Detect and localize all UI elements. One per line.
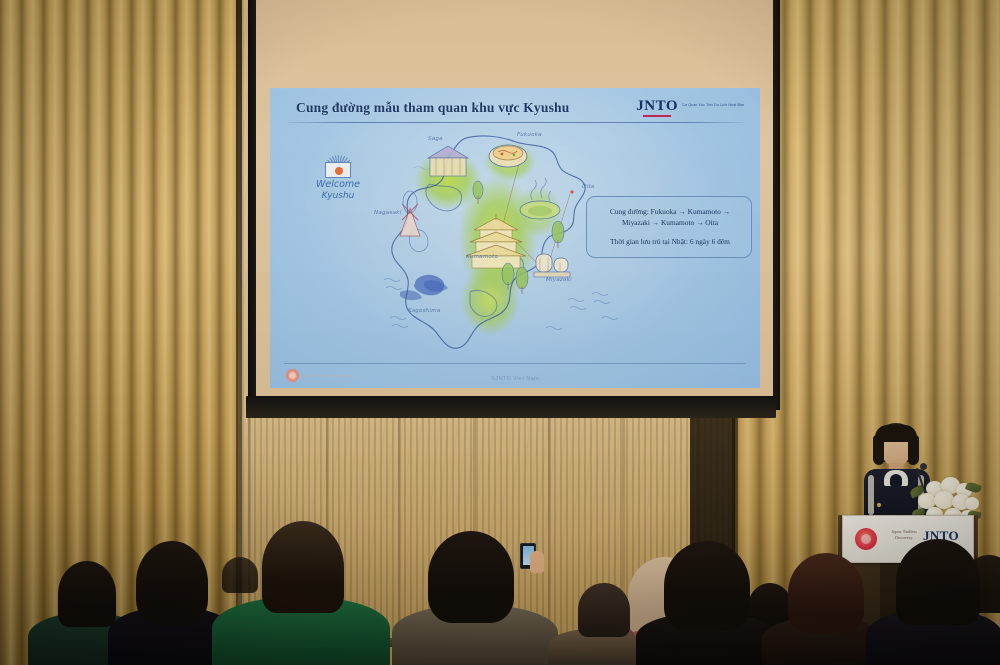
audience xyxy=(0,530,1000,665)
speaker-jacket-trim-left xyxy=(868,475,874,515)
map-label-miyazaki: Miyazaki xyxy=(546,277,572,283)
attendee-with-phone xyxy=(428,531,514,623)
map-label-oita: Oita xyxy=(582,184,594,190)
speaker-hair-right xyxy=(908,435,919,465)
route-stay-duration: Thời gian lưu trú tại Nhật: 6 ngày 6 đêm xyxy=(598,237,742,246)
route-line-1: Cung đường: Fukuoka → Kumamoto → xyxy=(598,207,742,218)
map-label-saga: Saga xyxy=(428,136,443,142)
map-label-kumamoto: Kumamoto xyxy=(466,254,498,260)
screen-right-frame xyxy=(772,0,780,410)
map-label-nagasaki: Nagasaki xyxy=(374,210,401,216)
attendee-12 xyxy=(222,557,258,593)
attendee-hand xyxy=(530,551,544,573)
attendee-1 xyxy=(58,561,116,627)
slide-title: Cung đường mẫu tham quan khu vực Kyushu xyxy=(296,100,569,116)
jnto-subtitle: Cơ Quan Xúc Tiến Du Lịch Nhật Bản xyxy=(682,103,752,107)
conference-room-scene: Cung đường mẫu tham quan khu vực Kyushu … xyxy=(0,0,1000,665)
map-label-kagoshima: Kagoshima xyxy=(408,308,441,314)
presentation-slide: Cung đường mẫu tham quan khu vực Kyushu … xyxy=(270,88,760,388)
screen-surface: Cung đường mẫu tham quan khu vực Kyushu … xyxy=(256,0,773,402)
speaker-lapel-pin xyxy=(877,503,881,507)
speaker-hair-left xyxy=(873,435,884,465)
title-divider xyxy=(288,122,744,123)
speaker-collar xyxy=(884,470,908,486)
attendee-9 xyxy=(788,553,864,633)
projection-screen: Cung đường mẫu tham quan khu vực Kyushu … xyxy=(256,0,773,416)
microphone-icon xyxy=(920,463,927,470)
route-info-box: Cung đường: Fukuoka → Kumamoto → Miyazak… xyxy=(586,196,752,258)
jnto-underline xyxy=(643,115,671,117)
jnto-wordmark: JNTO xyxy=(636,98,678,114)
footer-copyright: ©JNTO Viet Nam xyxy=(270,376,760,382)
attendee-2 xyxy=(136,541,208,625)
route-line-2: Miyazaki → Kumamoto → Oita xyxy=(598,218,742,229)
map-label-fukuoka: Fukuoka xyxy=(517,132,542,138)
slide-page-number: 26 xyxy=(742,376,748,382)
attendee-8 xyxy=(664,541,750,631)
attendee-7 xyxy=(578,583,630,637)
jnto-logo: JNTO xyxy=(636,99,678,117)
footer-divider xyxy=(284,363,746,364)
japan-flag-icon xyxy=(325,162,351,178)
screen-bottom-frame xyxy=(246,396,776,418)
attendee-green-shirt xyxy=(262,521,344,613)
